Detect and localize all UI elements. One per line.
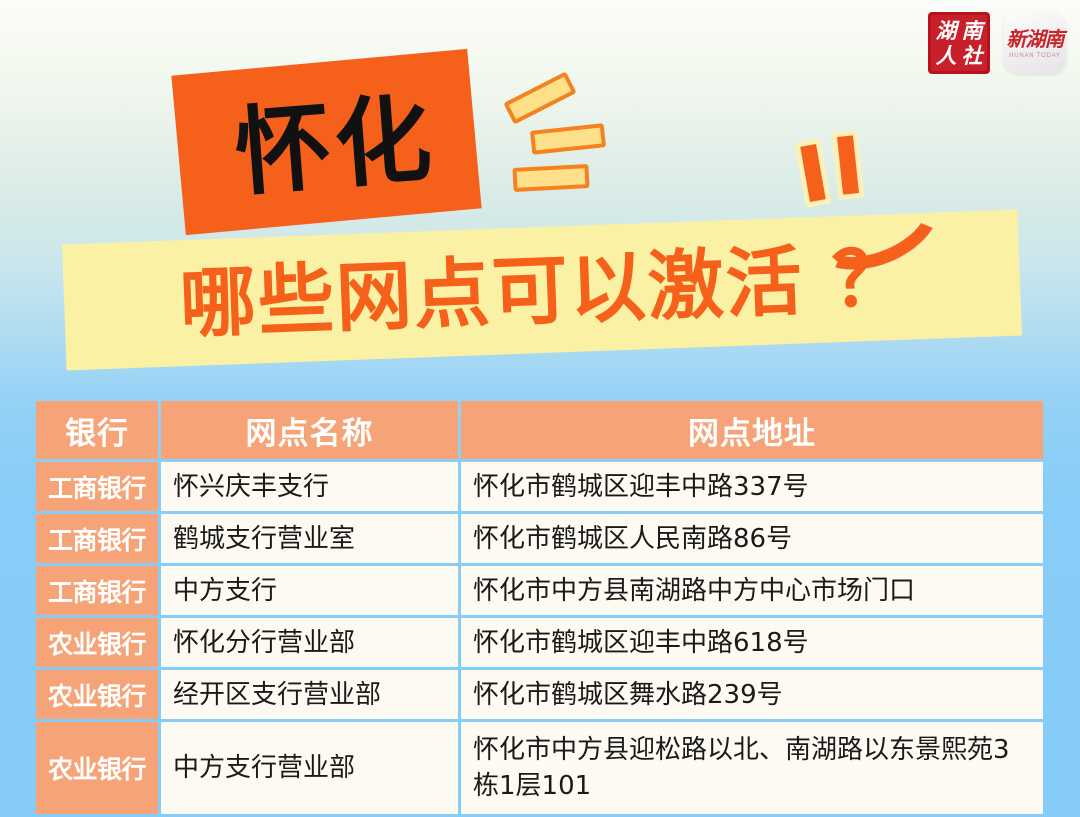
cell-branch: 怀化分行营业部: [161, 618, 458, 667]
cell-address: 怀化市鹤城区人民南路86号: [461, 514, 1043, 563]
page-title-city: 怀化: [196, 82, 473, 210]
cell-address: 怀化市鹤城区舞水路239号: [461, 670, 1043, 719]
poster-canvas: 湖 南 人 社 新湖南 HUNAN TODAY 怀化 哪些网点可以激活 ？: [0, 0, 1080, 817]
seal-char-2: 南: [959, 18, 985, 43]
hunan-renshe-seal-icon: 湖 南 人 社: [928, 12, 990, 74]
cell-bank: 农业银行: [36, 670, 158, 719]
branches-table: 银行 网点名称 网点地址 工商银行 怀兴庆丰支行 怀化市鹤城区迎丰中路337号 …: [33, 398, 1046, 817]
table-row: 农业银行 怀化分行营业部 怀化市鹤城区迎丰中路618号: [36, 618, 1043, 667]
column-header-address: 网点地址: [461, 401, 1043, 459]
table-row: 农业银行 经开区支行营业部 怀化市鹤城区舞水路239号: [36, 670, 1043, 719]
cell-bank: 农业银行: [36, 618, 158, 667]
dash-mark-icon-2: [530, 123, 606, 155]
seal-char-4: 社: [959, 43, 985, 68]
cell-branch: 鹤城支行营业室: [161, 514, 458, 563]
table-body: 工商银行 怀兴庆丰支行 怀化市鹤城区迎丰中路337号 工商银行 鹤城支行营业室 …: [36, 462, 1043, 814]
table-row: 农业银行 中方支行营业部 怀化市中方县迎松路以北、南湖路以东景熙苑3栋1层101: [36, 722, 1043, 814]
hunan-today-cn-label: 新湖南: [1007, 28, 1064, 50]
smiley-eye-icon-left: [794, 138, 831, 208]
cell-bank: 工商银行: [36, 462, 158, 511]
cell-branch: 怀兴庆丰支行: [161, 462, 458, 511]
cell-address: 怀化市中方县南湖路中方中心市场门口: [461, 566, 1043, 615]
hunan-today-en-label: HUNAN TODAY: [1009, 53, 1061, 59]
cell-bank: 工商银行: [36, 514, 158, 563]
cell-address: 怀化市鹤城区迎丰中路337号: [461, 462, 1043, 511]
cell-bank: 工商银行: [36, 566, 158, 615]
branches-table-container: 银行 网点名称 网点地址 工商银行 怀兴庆丰支行 怀化市鹤城区迎丰中路337号 …: [33, 398, 1046, 817]
seal-char-1: 湖: [933, 18, 959, 43]
dash-mark-icon-1: [503, 71, 576, 124]
table-head: 银行 网点名称 网点地址: [36, 401, 1043, 459]
cell-address: 怀化市鹤城区迎丰中路618号: [461, 618, 1043, 667]
column-header-bank: 银行: [36, 401, 158, 459]
table-row: 工商银行 怀兴庆丰支行 怀化市鹤城区迎丰中路337号: [36, 462, 1043, 511]
cell-branch: 中方支行: [161, 566, 458, 615]
cell-bank: 农业银行: [36, 722, 158, 814]
logo-group: 湖 南 人 社 新湖南 HUNAN TODAY: [928, 12, 1066, 74]
table-row: 工商银行 鹤城支行营业室 怀化市鹤城区人民南路86号: [36, 514, 1043, 563]
smiley-eye-icon-right: [832, 130, 865, 200]
column-header-branch: 网点名称: [161, 401, 458, 459]
cell-branch: 经开区支行营业部: [161, 670, 458, 719]
table-row: 工商银行 中方支行 怀化市中方县南湖路中方中心市场门口: [36, 566, 1043, 615]
cell-address: 怀化市中方县迎松路以北、南湖路以东景熙苑3栋1层101: [461, 722, 1043, 814]
dash-mark-icon-3: [512, 164, 589, 192]
cell-branch: 中方支行营业部: [161, 722, 458, 814]
seal-char-3: 人: [933, 43, 959, 68]
hunan-today-logo-icon: 新湖南 HUNAN TODAY: [1004, 12, 1066, 74]
table-header-row: 银行 网点名称 网点地址: [36, 401, 1043, 459]
